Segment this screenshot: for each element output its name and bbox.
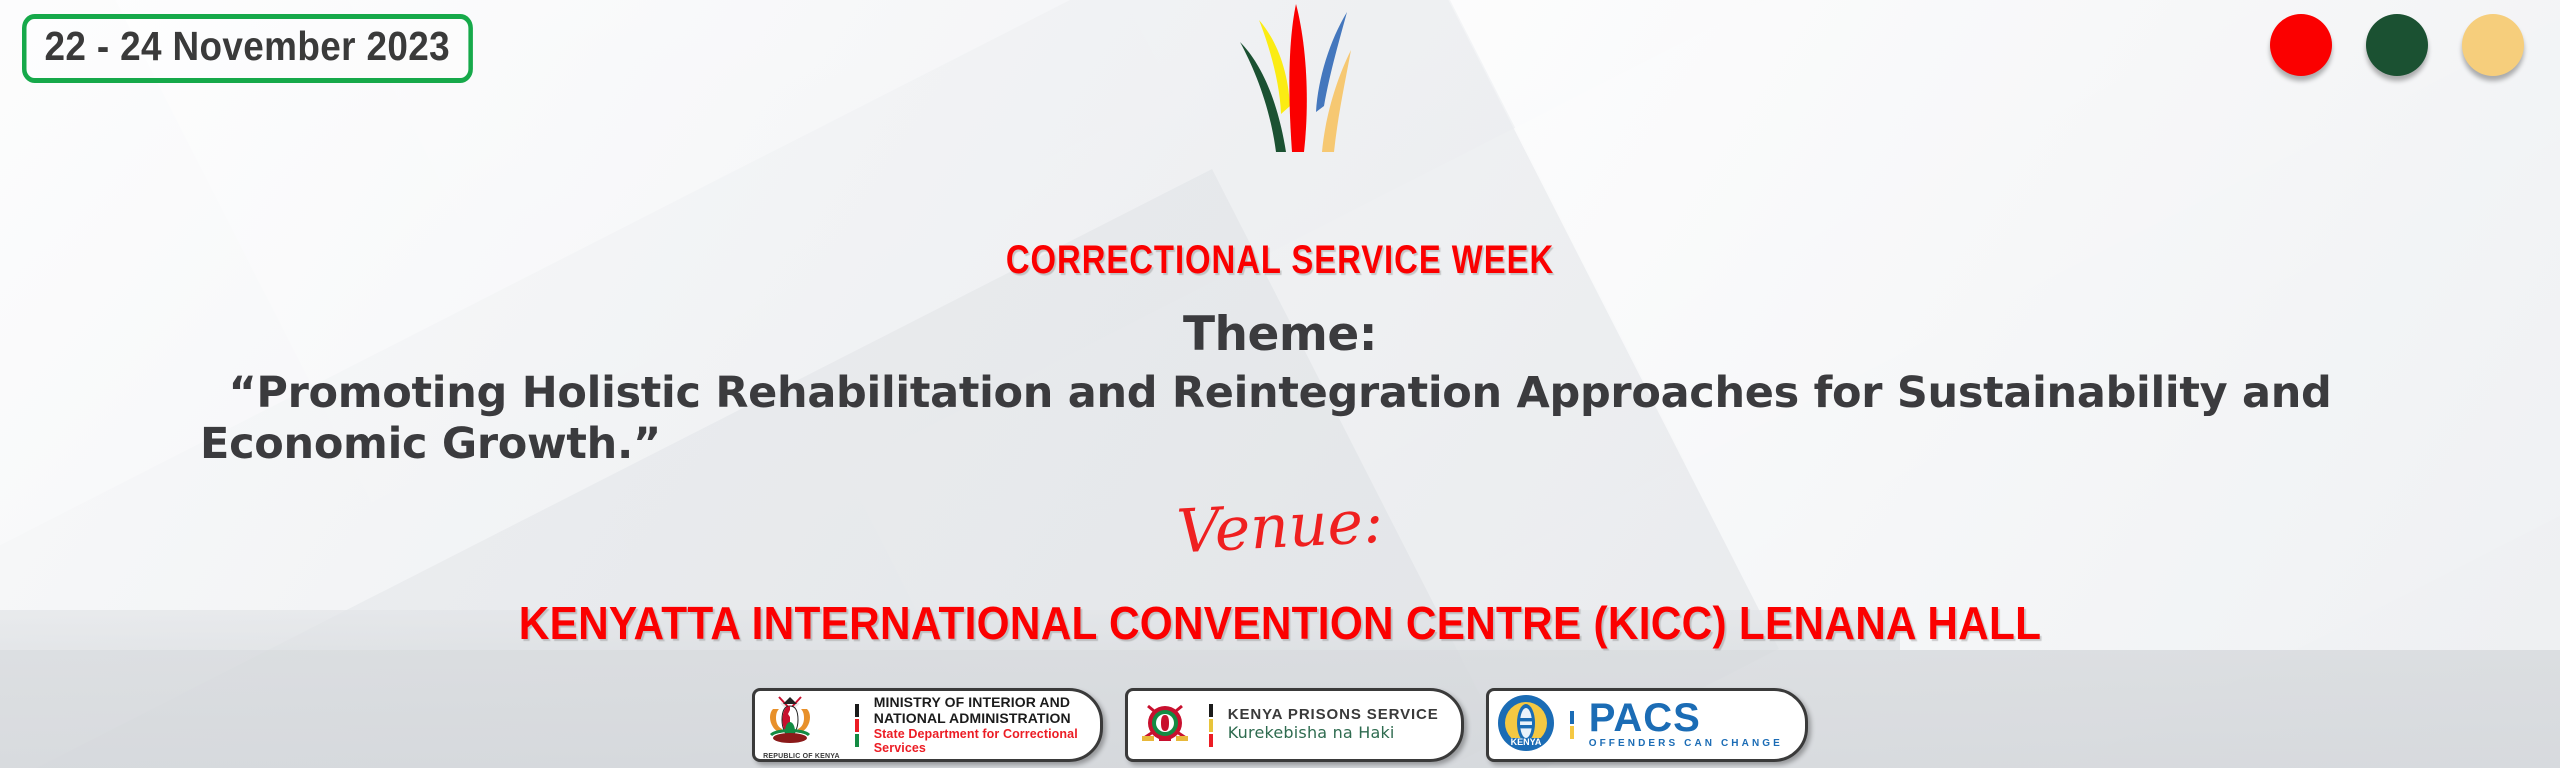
dot-green-icon: [2366, 14, 2428, 76]
rule-bar-black: [1209, 704, 1213, 717]
date-badge: 22 - 24 November 2023: [22, 14, 473, 83]
prisons-line-2: Kurekebisha na Haki: [1228, 724, 1439, 742]
pacs-tagline: OFFENDERS CAN CHANGE: [1589, 738, 1783, 749]
ministry-line-1: MINISTRY OF INTERIOR AND: [874, 695, 1078, 711]
dot-tan-icon: [2462, 14, 2524, 76]
dot-red-icon: [2270, 14, 2332, 76]
rule-bar-blue: [1570, 711, 1574, 724]
csw-flame-logo-icon: [1218, 2, 1378, 152]
ministry-line-3: State Department for Correctional: [874, 727, 1078, 741]
rule-bar-red: [855, 719, 859, 732]
color-rule-bars: [1209, 704, 1213, 747]
prisons-line-1: KENYA PRISONS SERVICE: [1228, 707, 1439, 724]
correctional-service-week-banner: 22 - 24 November 2023 CORRECTIONAL SERVI…: [0, 0, 2560, 768]
headline-block: CORRECTIONAL SERVICE WEEK Theme: “Promot…: [0, 238, 2560, 469]
pacs-seal-icon: KENYA: [1497, 694, 1555, 757]
rule-bar-red: [1209, 734, 1213, 747]
color-rule-bars: [1570, 711, 1574, 739]
color-rule-bars: [855, 704, 859, 747]
partner-logos: REPUBLIC OF KENYA MINISTRY OF INTERIOR A…: [0, 688, 2560, 762]
seal-caption: REPUBLIC OF KENYA: [763, 753, 840, 760]
kenya-prisons-emblem-icon: [1136, 694, 1194, 757]
event-title: CORRECTIONAL SERVICE WEEK: [230, 238, 2329, 283]
kenya-coat-of-arms-icon: REPUBLIC OF KENYA: [763, 691, 840, 760]
partner-logo-kenya-prisons-service: KENYA PRISONS SERVICE Kurekebisha na Hak…: [1125, 688, 1464, 762]
rule-bar-yellow: [1570, 726, 1574, 739]
rule-bar-black: [855, 704, 859, 717]
venue-name: KENYATTA INTERNATIONAL CONVENTION CENTRE…: [102, 596, 2457, 650]
partner-text: KENYA PRISONS SERVICE Kurekebisha na Hak…: [1228, 707, 1439, 742]
decorative-dots: [2270, 14, 2524, 76]
partner-text: MINISTRY OF INTERIOR AND NATIONAL ADMINI…: [874, 695, 1078, 755]
pacs-wordmark: PACS: [1589, 700, 1783, 737]
rule-bar-yellow: [1209, 719, 1213, 732]
theme-line-1: “Promoting Holistic Rehabilitation and R…: [70, 368, 2490, 419]
ministry-line-2: NATIONAL ADMINISTRATION: [874, 711, 1078, 727]
pacs-seal-country: KENYA: [1510, 737, 1541, 747]
ministry-line-4: Services: [874, 741, 1078, 755]
partner-text: PACS OFFENDERS CAN CHANGE: [1589, 700, 1783, 749]
partner-logo-pacs: KENYA PACS OFFENDERS CAN CHANGE: [1486, 688, 1808, 762]
partner-logo-ministry-of-interior: REPUBLIC OF KENYA MINISTRY OF INTERIOR A…: [752, 688, 1103, 762]
theme-label: Theme:: [0, 307, 2560, 362]
rule-bar-green: [855, 734, 859, 747]
